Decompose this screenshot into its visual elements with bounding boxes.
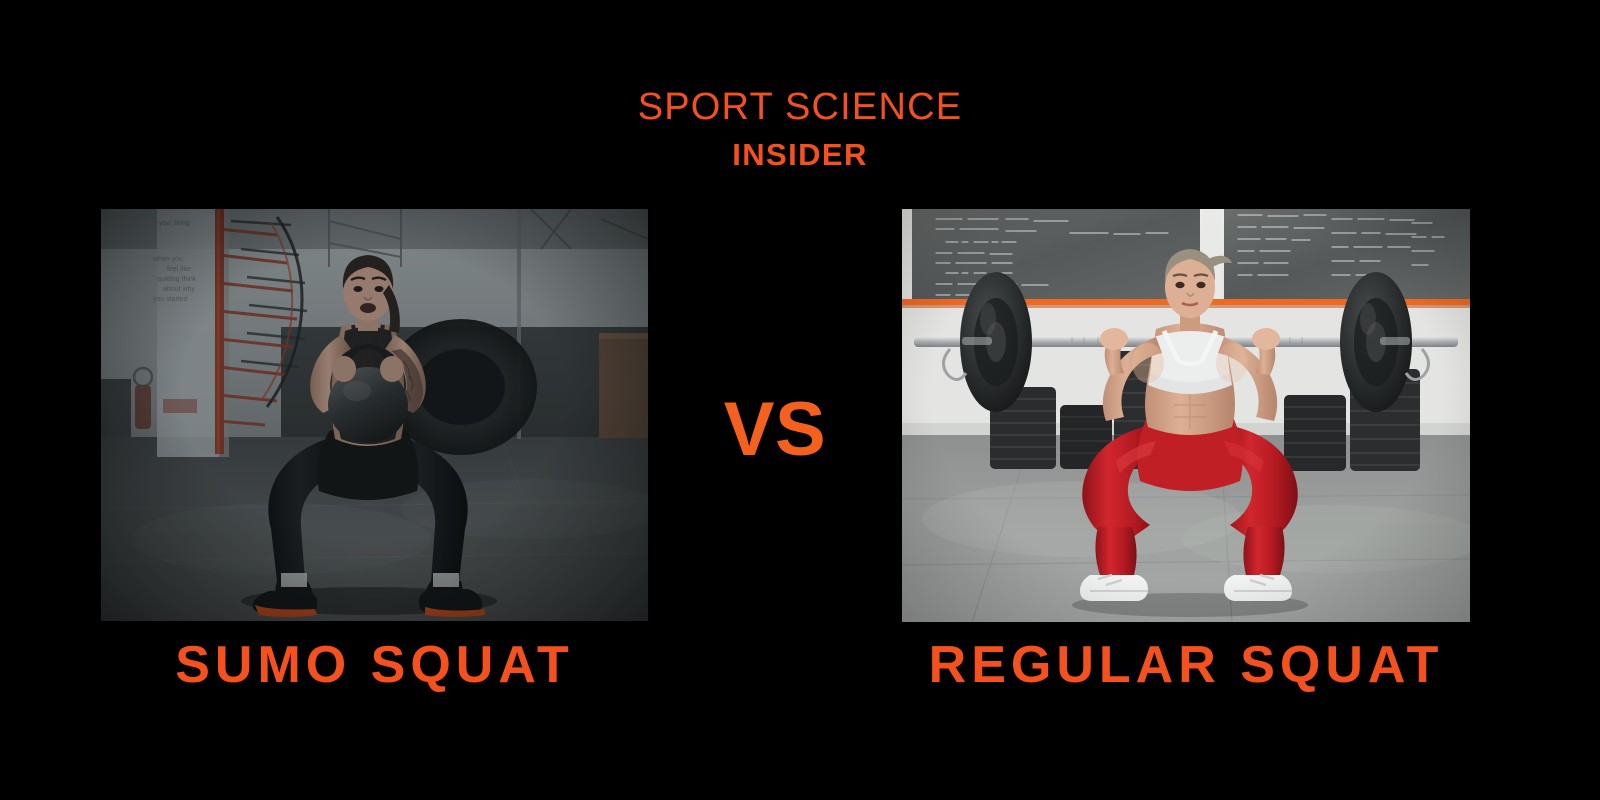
photo-sumo-squat: you, bring when you feel like quitting t…	[101, 209, 648, 621]
photo-regular-squat	[902, 209, 1470, 622]
brand-name-secondary: INSIDER	[0, 139, 1600, 172]
caption-sumo-squat: SUMO SQUAT	[101, 636, 648, 696]
versus-label: VS	[648, 392, 902, 468]
regular-squat-illustration	[902, 209, 1470, 622]
sumo-squat-illustration: you, bring when you feel like quitting t…	[101, 209, 648, 621]
brand-name-primary: SPORT SCIENCE	[0, 88, 1600, 128]
brand-header: SPORT SCIENCE INSIDER	[0, 88, 1600, 171]
caption-regular-squat: REGULAR SQUAT	[902, 636, 1470, 696]
infographic-canvas: SPORT SCIENCE INSIDER	[0, 0, 1600, 800]
